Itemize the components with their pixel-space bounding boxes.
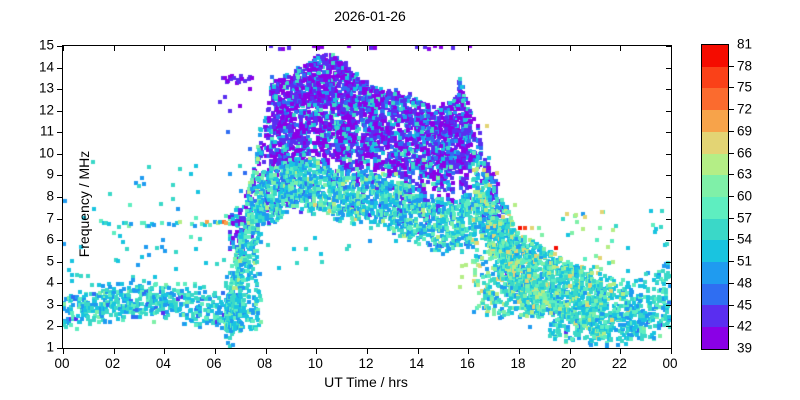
colorbar-tick-label: 57 — [737, 210, 752, 225]
colorbar-tick — [728, 66, 734, 67]
colorbar-tick-label: 39 — [737, 341, 752, 356]
colorbar-band — [702, 154, 728, 176]
x-tick-label: 18 — [510, 356, 525, 371]
colorbar-band — [702, 88, 728, 110]
colorbar-tick-label: 72 — [737, 102, 752, 117]
colorbar-band — [702, 132, 728, 154]
x-tick-label: 04 — [156, 356, 171, 371]
colorbar-tick-label: 54 — [737, 232, 752, 247]
x-axis-title: UT Time / hrs — [62, 374, 670, 390]
x-tick-label: 00 — [54, 356, 69, 371]
colorbar-tick-label: 78 — [737, 58, 752, 73]
x-tick-label: 08 — [257, 356, 272, 371]
colorbar-tick — [728, 131, 734, 132]
colorbar-tick — [728, 109, 734, 110]
x-tick-label: 20 — [561, 356, 576, 371]
colorbar-tick — [728, 153, 734, 154]
colorbar-band — [702, 197, 728, 219]
colorbar-tick-label: 69 — [737, 123, 752, 138]
x-tick-label: 00 — [662, 356, 677, 371]
colorbar-band — [702, 110, 728, 132]
colorbar-band — [702, 240, 728, 262]
x-tick-label: 12 — [358, 356, 373, 371]
colorbar-tick-label: 48 — [737, 275, 752, 290]
x-axis: 00020406081012141618202200 — [0, 0, 800, 400]
colorbar-band — [702, 67, 728, 89]
colorbar-tick — [728, 87, 734, 88]
colorbar-tick — [728, 174, 734, 175]
colorbar-tick-label: 51 — [737, 254, 752, 269]
colorbar-band — [702, 305, 728, 327]
colorbar-tick — [728, 305, 734, 306]
x-tick-label: 02 — [105, 356, 120, 371]
colorbar-tick — [728, 218, 734, 219]
x-tick-label: 10 — [308, 356, 323, 371]
colorbar-tick — [728, 239, 734, 240]
colorbar-tick-label: 42 — [737, 319, 752, 334]
colorbar-band — [702, 45, 728, 67]
colorbar-tick-label: 81 — [737, 37, 752, 52]
colorbar-tick-label: 75 — [737, 80, 752, 95]
colorbar-tick-label: 60 — [737, 189, 752, 204]
colorbar-band — [702, 327, 728, 349]
ionogram-figure: 2026-01-26 123456789101112131415 0002040… — [0, 0, 800, 400]
colorbar-band — [702, 219, 728, 241]
colorbar-tick — [728, 283, 734, 284]
y-axis-title: Frequency / MHz — [76, 114, 92, 294]
colorbar-band — [702, 175, 728, 197]
colorbar-tick-label: 45 — [737, 297, 752, 312]
colorbar-tick — [728, 196, 734, 197]
x-tick-label: 22 — [612, 356, 627, 371]
x-tick-label: 16 — [460, 356, 475, 371]
colorbar — [701, 44, 729, 350]
colorbar-tick-label: 66 — [737, 145, 752, 160]
colorbar-tick — [728, 326, 734, 327]
x-tick-label: 06 — [206, 356, 221, 371]
colorbar-band — [702, 262, 728, 284]
colorbar-tick — [728, 261, 734, 262]
x-tick-label: 14 — [409, 356, 424, 371]
colorbar-tick-label: 63 — [737, 167, 752, 182]
colorbar-band — [702, 284, 728, 306]
